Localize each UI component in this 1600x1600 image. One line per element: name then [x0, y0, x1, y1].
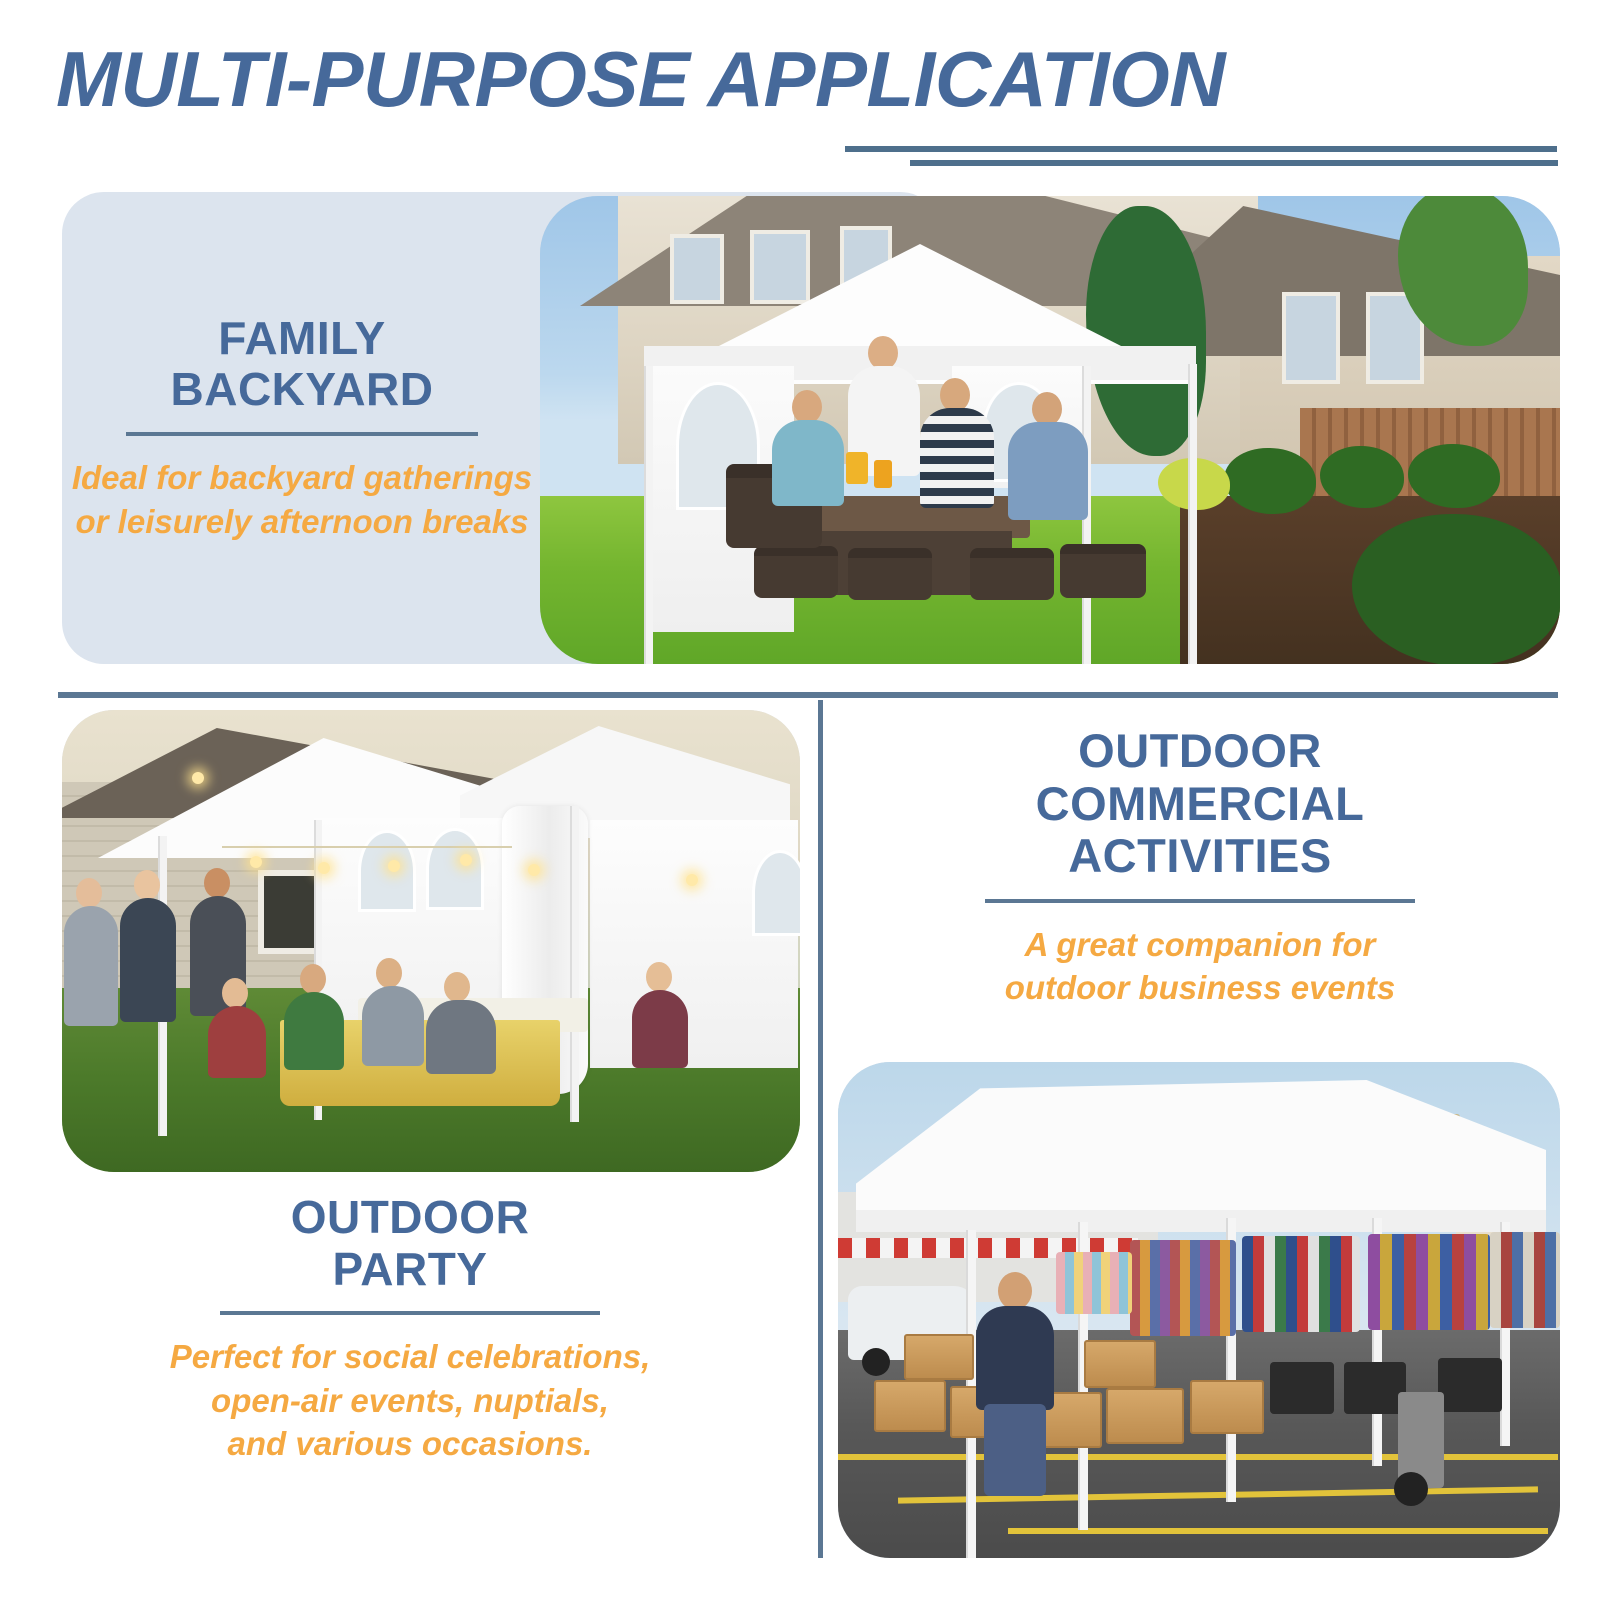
- drink-glass: [874, 460, 892, 488]
- goods-table: [1056, 1252, 1132, 1314]
- house-window: [1282, 292, 1340, 384]
- description-line: outdoor business events: [1005, 966, 1396, 1010]
- description-line: A great companion for: [1005, 923, 1396, 967]
- string-light-wire: [222, 846, 512, 848]
- clothing-rack: [1242, 1236, 1360, 1332]
- title-rule-upper: [845, 146, 1557, 152]
- panel-family-backyard-description: Ideal for backyard gatherings or leisure…: [72, 456, 532, 543]
- house-window: [750, 230, 810, 304]
- string-light-bulb: [460, 854, 472, 866]
- photo-outdoor-party: [62, 710, 800, 1172]
- cardboard-box: [874, 1380, 946, 1432]
- clothing-rack: [1490, 1232, 1560, 1328]
- panel-outdoor-commercial-text: OUTDOOR COMMERCIAL ACTIVITIES A great co…: [880, 725, 1520, 1010]
- canopy-window-arch: [426, 828, 484, 910]
- heading-line: COMMERCIAL: [1036, 778, 1365, 831]
- canopy-window-arch: [752, 850, 800, 936]
- panel-outdoor-party-text: OUTDOOR PARTY Perfect for social celebra…: [60, 1192, 760, 1466]
- heading-line: PARTY: [291, 1244, 530, 1296]
- large-shrub: [1352, 514, 1560, 664]
- parking-line: [838, 1454, 1558, 1460]
- patio-stool: [848, 548, 932, 600]
- canopy-window-arch: [358, 830, 416, 912]
- shrub: [1408, 444, 1500, 508]
- panel-outdoor-commercial-rule: [985, 899, 1415, 903]
- heading-line: OUTDOOR: [1036, 725, 1365, 778]
- heading-line: FAMILY: [171, 313, 434, 365]
- photo-family-backyard: [540, 196, 1560, 664]
- person-legs: [984, 1404, 1046, 1496]
- string-light-bulb: [686, 874, 698, 886]
- string-light-bulb: [528, 864, 540, 876]
- storage-bin: [1344, 1362, 1406, 1414]
- clothing-rack: [1368, 1234, 1490, 1330]
- panel-family-backyard-text: FAMILY BACKYARD Ideal for backyard gathe…: [62, 192, 542, 664]
- string-light-bulb: [388, 860, 400, 872]
- heading-line: ACTIVITIES: [1036, 830, 1365, 883]
- section-vertical-divider: [818, 700, 823, 1558]
- storage-bin: [1270, 1362, 1334, 1414]
- panel-family-backyard-rule: [126, 432, 478, 436]
- cardboard-box: [1190, 1380, 1264, 1434]
- description-line: Perfect for social celebrations,: [170, 1335, 651, 1379]
- patio-stool: [754, 546, 838, 598]
- parking-line: [1008, 1528, 1548, 1534]
- cardboard-box: [904, 1334, 974, 1380]
- shrub: [1320, 446, 1404, 508]
- scene-backyard: [540, 196, 1560, 664]
- house-window: [670, 234, 724, 304]
- hand-truck-wheel: [1394, 1472, 1428, 1506]
- scene-party: [62, 710, 800, 1172]
- panel-outdoor-commercial-description: A great companion for outdoor business e…: [1005, 923, 1396, 1010]
- description-line: open-air events, nuptials,: [170, 1379, 651, 1423]
- panel-family-backyard-heading: FAMILY BACKYARD: [171, 313, 434, 416]
- scene-market: [838, 1062, 1560, 1558]
- van-tire: [862, 1348, 890, 1376]
- cardboard-box: [1084, 1340, 1156, 1388]
- string-light-bulb: [250, 856, 262, 868]
- patio-stool: [1060, 544, 1146, 598]
- heading-line: OUTDOOR: [291, 1192, 530, 1244]
- canopy-leg: [570, 806, 579, 1122]
- drink-glass: [846, 452, 868, 484]
- description-line: Ideal for backyard gatherings: [72, 456, 532, 500]
- panel-outdoor-commercial-heading: OUTDOOR COMMERCIAL ACTIVITIES: [1036, 725, 1365, 883]
- shrub: [1224, 448, 1316, 514]
- canopy-valance: [856, 1210, 1546, 1232]
- panel-outdoor-party-heading: OUTDOOR PARTY: [291, 1192, 530, 1295]
- storage-bin: [1438, 1358, 1502, 1412]
- patio-stool: [970, 548, 1054, 600]
- panel-outdoor-party-rule: [220, 1311, 600, 1315]
- cardboard-box: [1106, 1388, 1184, 1444]
- string-light-bulb: [318, 862, 330, 874]
- string-light-bulb: [192, 772, 204, 784]
- panel-outdoor-party-description: Perfect for social celebrations, open-ai…: [170, 1335, 651, 1466]
- title-rule-lower: [910, 160, 1558, 166]
- heading-line: BACKYARD: [171, 364, 434, 416]
- infographic-page: MULTI-PURPOSE APPLICATION: [0, 0, 1600, 1600]
- canopy-leg: [1188, 364, 1197, 664]
- description-line: and various occasions.: [170, 1422, 651, 1466]
- page-title: MULTI-PURPOSE APPLICATION: [56, 34, 1225, 125]
- description-line: or leisurely afternoon breaks: [72, 500, 532, 544]
- photo-outdoor-commercial: [838, 1062, 1560, 1558]
- canopy-leg: [644, 366, 653, 664]
- section-horizontal-divider: [58, 692, 1558, 698]
- clothing-rack: [1130, 1240, 1236, 1336]
